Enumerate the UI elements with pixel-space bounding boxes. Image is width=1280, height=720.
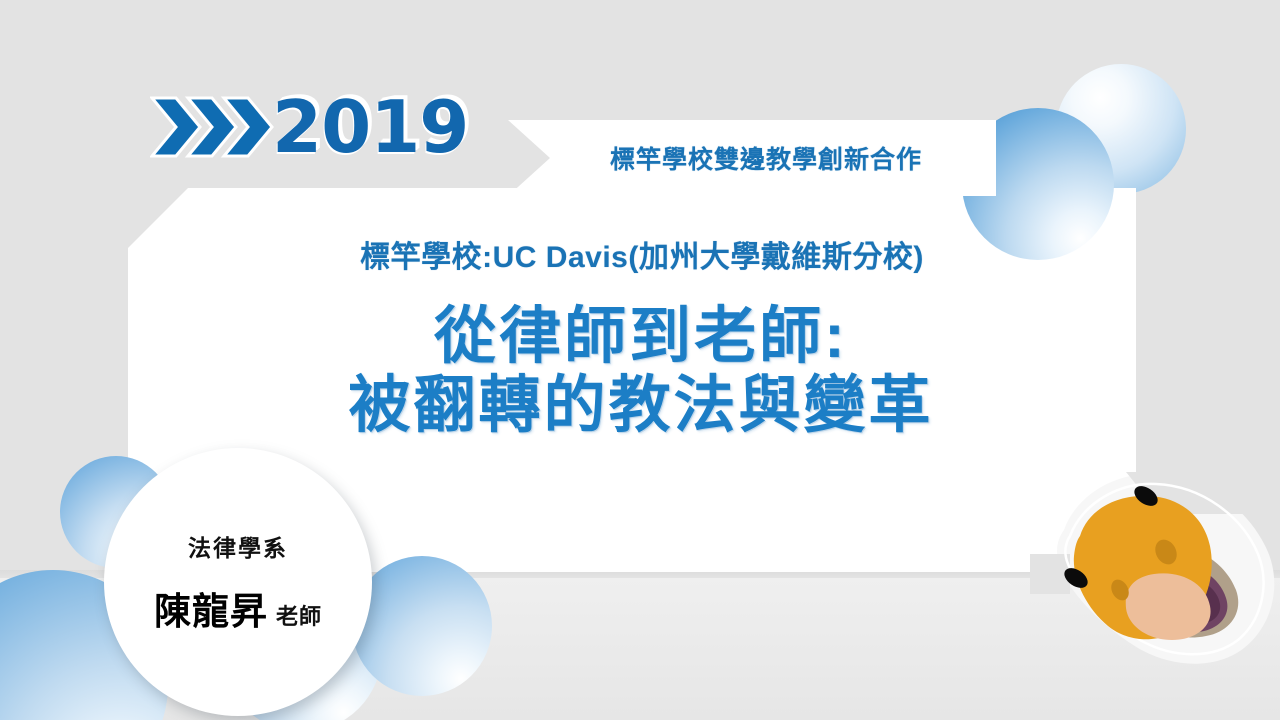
presenter-badge: 法律學系 陳龍昇 老師 <box>104 448 372 716</box>
presenter-department: 法律學系 <box>188 529 288 563</box>
page-title-line-2: 被翻轉的教法與變革 <box>348 371 933 440</box>
presentation-slide: 2019 標竿學校雙邊教學創新合作 標竿學校:UC Davis(加州大學戴維斯分… <box>0 0 1280 720</box>
presenter-name: 陳龍昇 <box>154 581 268 635</box>
banner-ribbon: 標竿學校雙邊教學創新合作 <box>508 120 996 196</box>
banner-label: 標竿學校雙邊教學創新合作 <box>610 140 922 176</box>
year-block: 2019 <box>150 88 468 166</box>
year-label: 2019 <box>272 91 468 163</box>
benchmark-school-label: 標竿學校:UC Davis(加州大學戴維斯分校) <box>360 232 924 276</box>
presenter-name-row: 陳龍昇 老師 <box>154 581 322 635</box>
page-title: 從律師到老師: 被翻轉的教法與變革 <box>348 302 933 441</box>
page-title-line-1: 從律師到老師: <box>348 302 933 371</box>
presenter-role: 老師 <box>276 599 322 631</box>
chevron-group <box>150 96 274 158</box>
